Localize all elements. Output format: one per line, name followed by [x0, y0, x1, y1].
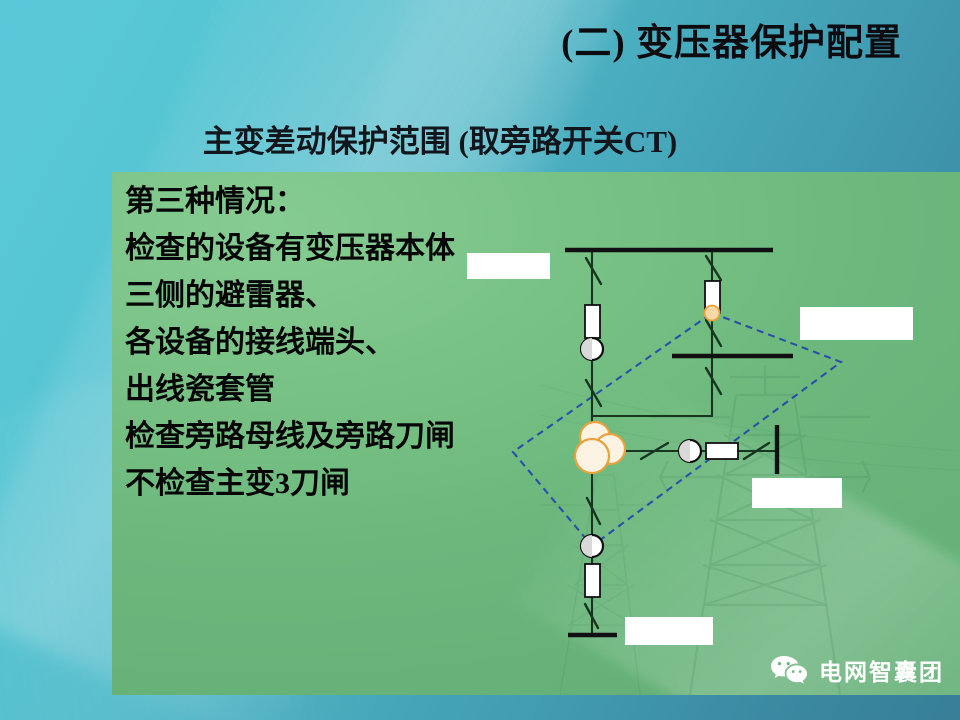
breaker-bypass-icon [679, 440, 701, 462]
disconnect-right-upper-icon [706, 320, 721, 346]
callout-upper-right[interactable] [800, 307, 913, 340]
page-subtitle: 主变差动保护范围 (取旁路开关CT) [0, 116, 960, 161]
ct-right-top-icon [705, 281, 720, 313]
disconnect-right-top-icon [706, 256, 721, 280]
bullet-line-5: 出线瓷套管 [125, 366, 595, 413]
ct-bottom-icon [585, 564, 600, 597]
breaker-bottom-icon [581, 535, 603, 557]
watermark: 电网智囊团 [769, 653, 944, 687]
disconnect-bottom-low-icon [585, 604, 598, 628]
bullet-line-1: 第三种情况： [125, 178, 595, 225]
disconnect-bypass-b-icon [744, 443, 769, 459]
bullet-line-3: 三侧的避雷器、 [125, 272, 595, 319]
slide-root: (二) 变压器保护配置 主变差动保护范围 (取旁路开关CT) [0, 0, 960, 720]
ct-bypass-icon [706, 443, 738, 459]
callout-mid-right[interactable] [752, 478, 842, 508]
callout-bottom[interactable] [625, 617, 713, 645]
disconnect-bypass-a-icon [641, 443, 668, 459]
page-title: (二) 变压器保护配置 [561, 12, 902, 66]
bullet-text-block: 第三种情况： 检查的设备有变压器本体 三侧的避雷器、 各设备的接线端头、 出线瓷… [125, 178, 595, 507]
bullet-line-4: 各设备的接线端头、 [125, 319, 595, 366]
bullet-line-6: 检查旁路母线及旁路刀闸 [125, 413, 595, 460]
callout-over-text[interactable] [467, 253, 550, 279]
wechat-icon [769, 654, 809, 686]
bullet-line-7: 不检查主变3刀闸 [125, 460, 595, 507]
disconnect-right-lower-icon [706, 368, 721, 394]
watermark-text: 电网智囊团 [819, 653, 944, 687]
node-bypass-icon [705, 306, 720, 321]
content-panel: 第三种情况： 检查的设备有变压器本体 三侧的避雷器、 各设备的接线端头、 出线瓷… [112, 172, 960, 695]
